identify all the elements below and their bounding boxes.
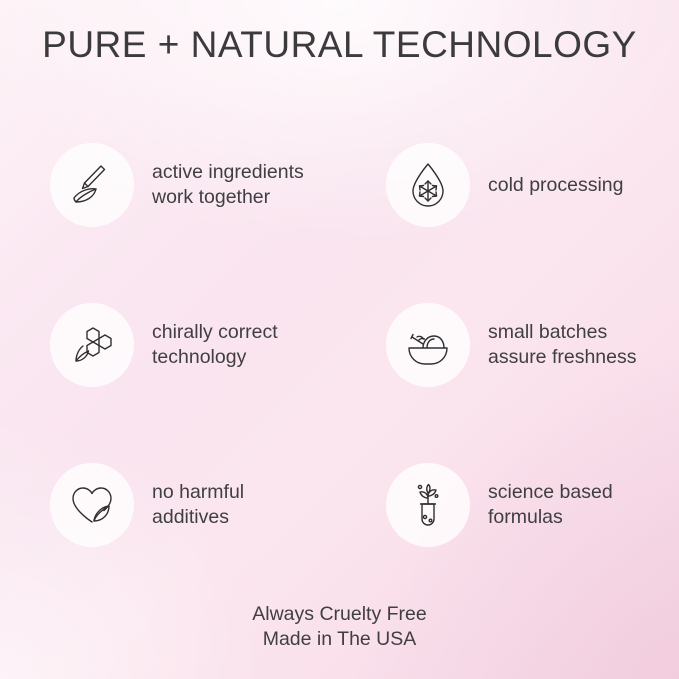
feature-label: science based formulas [488, 480, 613, 530]
page-title: PURE + NATURAL TECHNOLOGY [0, 24, 679, 66]
test-tube-plant-icon [386, 463, 470, 547]
feature-label: active ingredients work together [152, 160, 304, 210]
water-drop-snowflake-icon [386, 143, 470, 227]
feature-label: no harmful additives [152, 480, 244, 530]
feature-item-active-ingredients[interactable]: active ingredients work together [0, 120, 340, 250]
feature-label: chirally correct technology [152, 320, 278, 370]
feature-item-small-batches[interactable]: small batches assure freshness [340, 250, 679, 440]
feature-item-chirally-correct[interactable]: chirally correct technology [0, 250, 340, 440]
mixing-bowl-whisk-icon [386, 303, 470, 387]
feature-label: small batches assure freshness [488, 320, 637, 370]
footer-text: Always Cruelty Free Made in The USA [0, 602, 679, 652]
feature-row: chirally correct technology small batche… [0, 250, 679, 440]
feature-label: cold processing [488, 173, 624, 198]
feature-row: active ingredients work together cold pr… [0, 120, 679, 250]
feature-grid: active ingredients work together cold pr… [0, 120, 679, 570]
dropper-leaf-icon [50, 143, 134, 227]
feature-item-science-based[interactable]: science based formulas [340, 440, 679, 570]
heart-leaf-icon [50, 463, 134, 547]
feature-row: no harmful additives science based formu… [0, 440, 679, 570]
molecule-leaf-icon [50, 303, 134, 387]
feature-item-cold-processing[interactable]: cold processing [340, 120, 679, 250]
feature-item-no-harmful-additives[interactable]: no harmful additives [0, 440, 340, 570]
